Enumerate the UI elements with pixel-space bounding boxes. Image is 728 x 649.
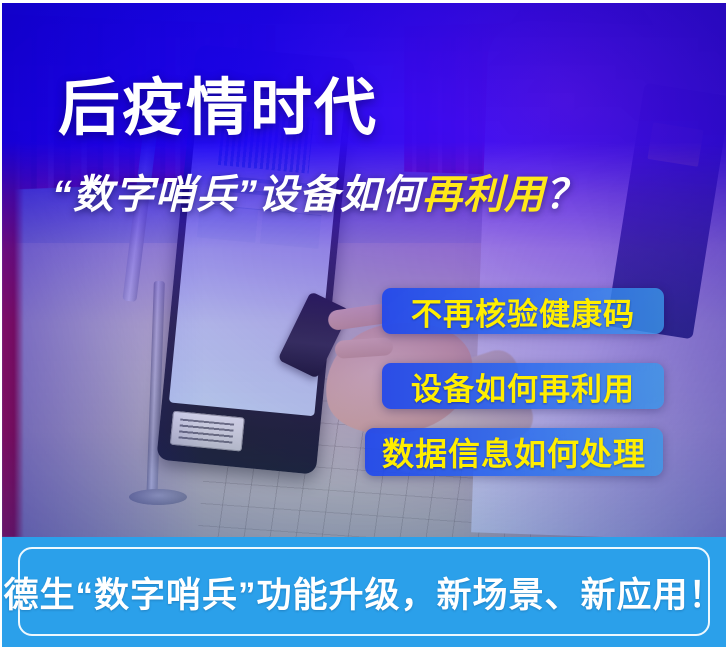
subtitle-highlight: 再利用 <box>422 173 545 217</box>
topic-pill-device-reuse[interactable]: 设备如何再利用 <box>382 363 664 409</box>
topic-pill-label: 不再核验健康码 <box>411 289 635 334</box>
topic-pill-data-handling[interactable]: 数据信息如何处理 <box>365 428 663 476</box>
bottom-banner: 德生“数字哨兵”功能升级，新场景、新应用！ <box>2 537 726 647</box>
topic-pill-label: 设备如何再利用 <box>411 364 635 409</box>
page-title: 后疫情时代 <box>58 78 378 140</box>
topic-pill-label: 数据信息如何处理 <box>382 429 646 475</box>
page-subtitle: “数字哨兵”设备如何再利用？ <box>52 175 586 215</box>
subtitle-tail: ？ <box>545 173 586 217</box>
topic-pill-health-code[interactable]: 不再核验健康码 <box>382 288 664 334</box>
banner-text: 德生“数字哨兵”功能升级，新场景、新应用！ <box>3 567 724 618</box>
poster: 后疫情时代 “数字哨兵”设备如何再利用？ 不再核验健康码 设备如何再利用 数据信… <box>0 0 728 649</box>
subtitle-lead: “数字哨兵”设备如何 <box>52 173 422 217</box>
